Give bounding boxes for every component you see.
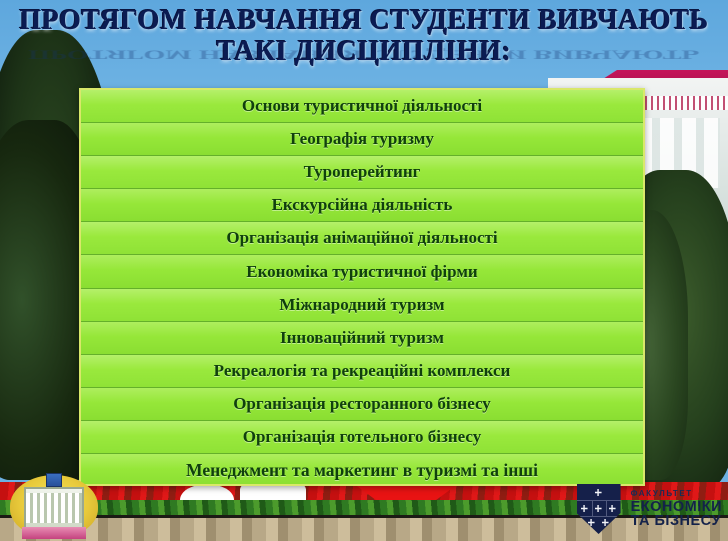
subject-row[interactable]: Організація готельного бізнесу — [81, 421, 643, 454]
subject-label: Основи туристичної діяльності — [242, 96, 482, 116]
subject-row[interactable]: Міжнародний туризм — [81, 289, 643, 322]
faculty-logo-line-3: ТА БІЗНЕСУ — [631, 514, 722, 529]
subject-row[interactable]: Туроперейтинг — [81, 156, 643, 189]
subject-label: Економіка туристичної фірми — [246, 262, 477, 282]
slide-title-line-1: ПРОТЯГОМ НАВЧАННЯ СТУДЕНТИ ВИВЧАЮТЬ — [0, 6, 728, 35]
university-emblem — [6, 471, 102, 539]
subject-label: Організація ресторанного бізнесу — [233, 394, 491, 414]
slide-title: ПРОТЯГОМ НАВЧАННЯ СТУДЕНТИ ВИВЧАЮТЬ ТАКІ… — [0, 6, 728, 66]
faculty-logo-text: ФАКУЛЬТЕТ ЕКОНОМІКИ ТА БІЗНЕСУ — [631, 490, 722, 529]
subject-row[interactable]: Екскурсійна діяльність — [81, 189, 643, 222]
subject-row[interactable]: Географія туризму — [81, 123, 643, 156]
emblem-base — [22, 527, 86, 539]
faculty-logo-line-2: ЕКОНОМІКИ — [631, 500, 722, 515]
subject-label: Географія туризму — [290, 129, 434, 149]
subject-label: Організація анімаційної діяльності — [226, 228, 497, 248]
subject-label: Менеджмент та маркетинг в туризмі та інш… — [186, 460, 538, 481]
slide-stage: ПРОТЯГОМ НАВЧАННЯ СТУДЕНТИ ВИВЧАЮТЬ ТАКІ… — [0, 0, 728, 541]
subject-row[interactable]: Інноваційний туризм — [81, 322, 643, 355]
shield-crest-icon — [577, 484, 621, 534]
subject-label: Рекреалогія та рекреаційні комплекси — [214, 361, 511, 381]
subject-row[interactable]: Економіка туристичної фірми — [81, 255, 643, 288]
subject-row[interactable]: Рекреалогія та рекреаційні комплекси — [81, 355, 643, 388]
slide-title-line-2: ТАКІ ДИСЦИПЛІНИ: — [0, 37, 728, 66]
subject-row[interactable]: Організація ресторанного бізнесу — [81, 388, 643, 421]
subject-label: Інноваційний туризм — [280, 328, 444, 348]
faculty-logo-line-1: ФАКУЛЬТЕТ — [631, 490, 722, 498]
subject-label: Туроперейтинг — [304, 162, 421, 182]
subject-row[interactable]: Менеджмент та маркетинг в туризмі та інш… — [81, 454, 643, 486]
subject-label: Екскурсійна діяльність — [272, 195, 453, 215]
subject-row[interactable]: Організація анімаційної діяльності — [81, 222, 643, 255]
subjects-panel: Основи туристичної діяльності Географія … — [79, 88, 645, 486]
emblem-columns-icon — [26, 493, 82, 523]
subject-row[interactable]: Основи туристичної діяльності — [81, 90, 643, 123]
subject-label: Міжнародний туризм — [279, 295, 444, 315]
emblem-crest-icon — [46, 473, 62, 487]
faculty-logo: ФАКУЛЬТЕТ ЕКОНОМІКИ ТА БІЗНЕСУ — [577, 483, 722, 535]
subject-label: Організація готельного бізнесу — [243, 427, 481, 447]
